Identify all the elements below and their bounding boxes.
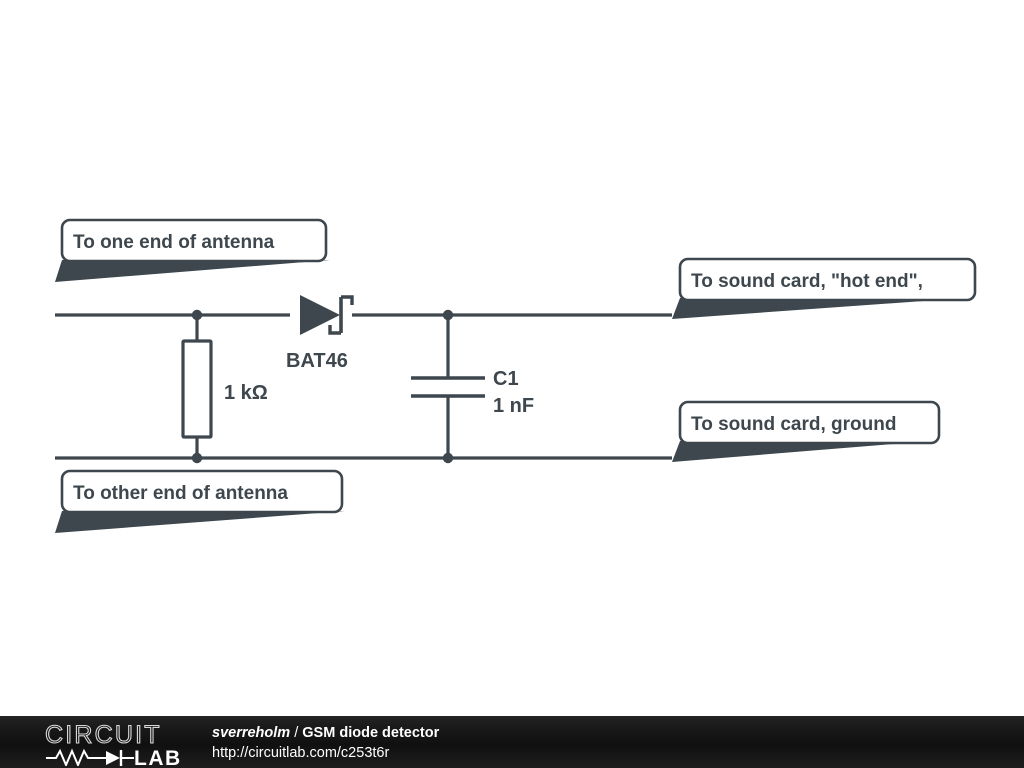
junction-dot-resistor-top [192, 310, 202, 320]
junction-dot-capacitor-bottom [443, 453, 453, 463]
junction-dot-capacitor-top [443, 310, 453, 320]
footer-author: sverreholm [212, 725, 290, 741]
junction-dot-resistor-bottom [192, 453, 202, 463]
footer-credit-line: sverreholm / GSM diode detector [212, 724, 439, 743]
diode-designator-label: BAT46 [286, 350, 348, 372]
diode-symbol [300, 295, 352, 335]
callout-tail [55, 260, 330, 282]
capacitor-designator-label: C1 [493, 368, 519, 390]
callout-antenna-one-end[interactable]: To one end of antenna [55, 220, 330, 282]
capacitor-value-label: 1 nF [493, 395, 534, 417]
resistor-value-label: 1 kΩ [224, 382, 268, 404]
circuit-schematic: 1 kΩ BAT46 C1 1 nF To one end of antenna… [0, 0, 1024, 768]
logo-wordmark-top: CIRCUIT [45, 722, 162, 749]
callout-label: To sound card, "hot end", [691, 271, 923, 292]
callout-label: To sound card, ground [691, 414, 896, 435]
callout-sound-card-ground[interactable]: To sound card, ground [672, 402, 939, 462]
footer-url[interactable]: http://circuitlab.com/c253t6r [212, 744, 439, 763]
resistor-symbol [183, 341, 211, 437]
logo-wordmark-bottom: LAB [134, 747, 182, 766]
logo-diode-icon [106, 750, 134, 766]
callout-label: To one end of antenna [73, 232, 275, 253]
footer-separator: / [294, 725, 298, 741]
callout-antenna-other-end[interactable]: To other end of antenna [55, 471, 345, 533]
callout-sound-card-hot[interactable]: To sound card, "hot end", [672, 259, 975, 319]
circuitlab-logo: CIRCUIT LAB [44, 722, 194, 766]
logo-resistor-icon [46, 751, 106, 765]
callout-label: To other end of antenna [73, 483, 288, 504]
footer-attribution: sverreholm / GSM diode detector http://c… [212, 724, 439, 763]
footer-circuit-title: GSM diode detector [302, 725, 439, 741]
footer-bar: CIRCUIT LAB sverreholm / GSM diode detec… [0, 716, 1024, 768]
callout-tail [55, 511, 345, 533]
